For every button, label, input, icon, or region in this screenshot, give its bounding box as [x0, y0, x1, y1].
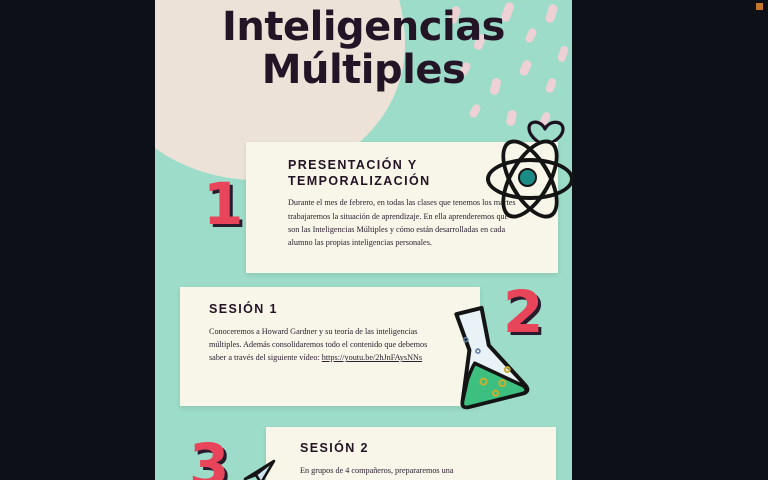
section-3-body: En grupos de 4 compañeros, prepararemos …: [300, 464, 536, 477]
section-1-heading-line1: PRESENTACIÓN Y: [288, 158, 418, 172]
session-1-video-link[interactable]: https://youtu.be/2hJnFAysNNs: [322, 353, 422, 362]
scroll-marker[interactable]: [756, 3, 763, 10]
section-3-heading: SESIÓN 2: [300, 441, 536, 457]
section-number-1: 1: [203, 175, 243, 233]
screenshot-viewport: Inteligencias Múltiples PRESENTACIÓN Y T…: [0, 0, 768, 480]
section-2-body: Conoceremos a Howard Gardner y su teoría…: [209, 325, 431, 365]
section-card-3: SESIÓN 2 En grupos de 4 compañeros, prep…: [266, 427, 556, 480]
atom-icon: [478, 128, 574, 224]
title-line-2: Múltiples: [155, 51, 572, 90]
decor-dash: [505, 109, 517, 127]
section-1-heading-line2: TEMPORALIZACIÓN: [288, 174, 431, 188]
page-title: Inteligencias Múltiples: [155, 8, 572, 90]
decor-dash: [468, 103, 482, 119]
paper-plane-icon: [243, 459, 277, 480]
title-line-1: Inteligencias: [222, 4, 505, 50]
section-2-heading: SESIÓN 1: [209, 302, 454, 318]
atom-nucleus: [518, 168, 537, 187]
section-number-3: 3: [189, 436, 229, 480]
